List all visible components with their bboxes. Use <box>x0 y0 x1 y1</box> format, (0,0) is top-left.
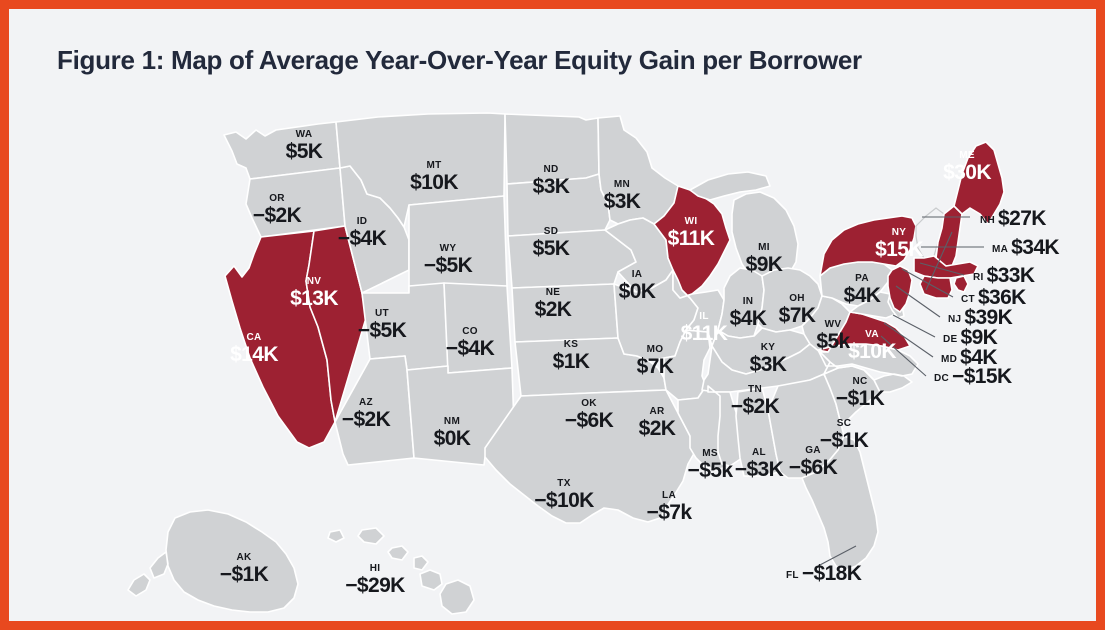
state-shape-AK[interactable] <box>128 510 298 612</box>
state-shape-HI[interactable] <box>328 528 474 614</box>
state-shape-ME[interactable] <box>954 142 1004 224</box>
state-shape-CO[interactable] <box>444 283 512 373</box>
us-map-svg <box>18 18 1105 630</box>
state-shape-IN[interactable] <box>718 268 764 338</box>
state-shape-OR[interactable] <box>246 168 345 237</box>
state-shape-ND[interactable] <box>505 114 599 184</box>
state-shape-CT[interactable] <box>920 276 952 298</box>
state-shape-KS[interactable] <box>512 284 618 342</box>
state-shape-MN[interactable] <box>598 116 678 224</box>
figure-frame: Figure 1: Map of Average Year-Over-Year … <box>0 0 1105 630</box>
state-shape-RI[interactable] <box>954 276 968 292</box>
state-shape-WY[interactable] <box>409 196 507 293</box>
us-map: WA$5KOR−$2KCA$14KNV$13KID−$4KMT$10KWY−$5… <box>18 18 1105 630</box>
state-shape-SD[interactable] <box>507 174 610 236</box>
state-shape-TX[interactable] <box>485 390 696 523</box>
